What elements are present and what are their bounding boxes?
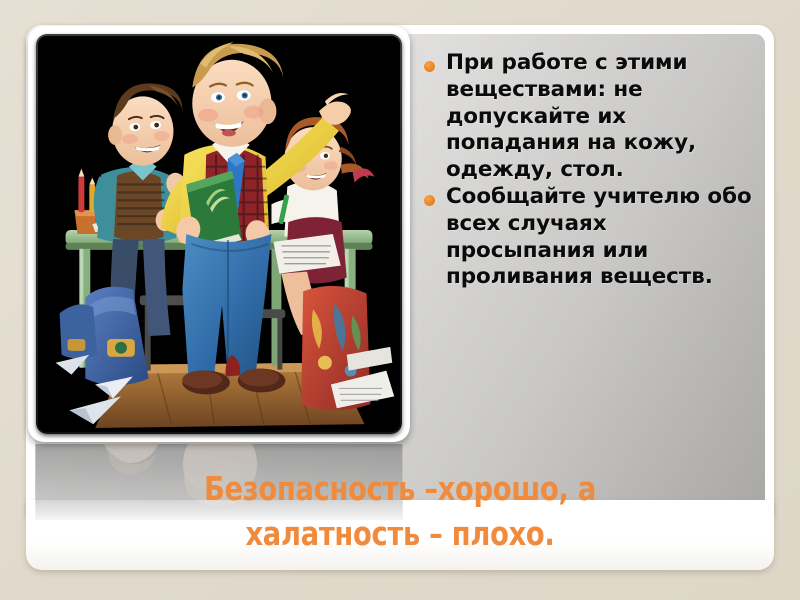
illustration-frame xyxy=(28,26,410,442)
list-item: Сообщайте учителю обо всех случаях просы… xyxy=(422,184,752,291)
illustration-image xyxy=(38,36,400,432)
bullet-text: Сообщайте учителю обо всех случаях просы… xyxy=(446,184,752,291)
bullet-text: При работе с этими веществами: не допуск… xyxy=(446,50,752,184)
illustration-bezel xyxy=(36,34,402,434)
orange-dot-bullet-icon xyxy=(424,61,435,72)
classroom-children-illustration xyxy=(38,36,400,432)
panel-base-strip xyxy=(26,500,774,570)
slide-canvas: При работе с этими веществами: не допуск… xyxy=(0,0,800,600)
bullet-list: При работе с этими веществами: не допуск… xyxy=(422,50,752,291)
orange-dot-bullet-icon xyxy=(424,195,435,206)
list-item: При работе с этими веществами: не допуск… xyxy=(422,50,752,184)
